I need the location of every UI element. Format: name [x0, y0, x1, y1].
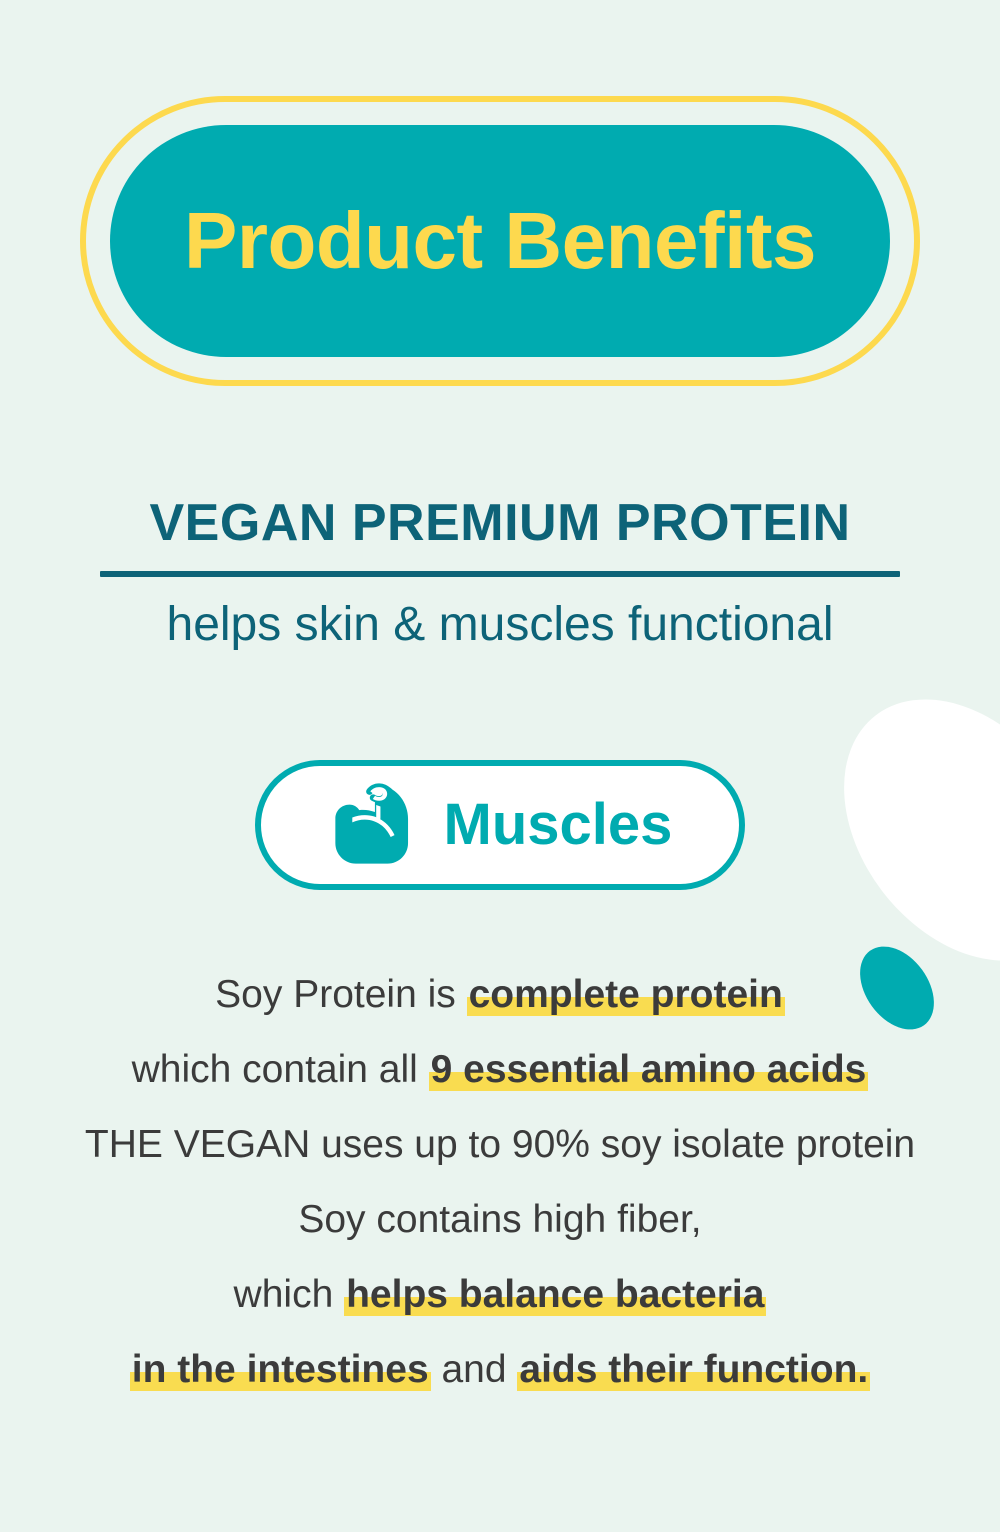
- copy-line-1: Soy Protein is complete protein: [0, 975, 1000, 1014]
- copy-line-4: Soy contains high fiber,: [0, 1200, 1000, 1239]
- headline-main: VEGAN PREMIUM PROTEIN: [0, 495, 1000, 551]
- page-title: Product Benefits: [184, 201, 816, 281]
- copy-line-3: THE VEGAN uses up to 90% soy isolate pro…: [0, 1125, 1000, 1164]
- copy-text: Soy Protein is: [215, 973, 466, 1016]
- benefits-copy: Soy Protein is complete protein which co…: [0, 975, 1000, 1389]
- highlighted-phrase: complete protein: [467, 975, 785, 1014]
- copy-text: Soy contains high fiber,: [298, 1198, 701, 1241]
- header-outline-ring: Product Benefits: [80, 96, 920, 386]
- headline-block: VEGAN PREMIUM PROTEIN helps skin & muscl…: [0, 495, 1000, 652]
- copy-text: which: [234, 1273, 345, 1316]
- headline-subtitle: helps skin & muscles functional: [0, 599, 1000, 652]
- highlighted-phrase: in the intestines: [130, 1350, 431, 1389]
- muscles-badge: Muscles: [255, 760, 745, 890]
- copy-text: which contain all: [132, 1048, 429, 1091]
- highlighted-phrase: helps balance bacteria: [344, 1275, 766, 1314]
- muscles-badge-label: Muscles: [444, 796, 673, 854]
- copy-line-2: which contain all 9 essential amino acid…: [0, 1050, 1000, 1089]
- copy-line-6: in the intestines and aids their functio…: [0, 1350, 1000, 1389]
- copy-text: and: [431, 1348, 518, 1391]
- copy-line-5: which helps balance bacteria: [0, 1275, 1000, 1314]
- copy-text: THE VEGAN uses up to 90% soy isolate pro…: [85, 1123, 915, 1166]
- highlighted-phrase: 9 essential amino acids: [429, 1050, 869, 1089]
- highlighted-phrase: aids their function.: [517, 1350, 870, 1389]
- headline-divider: [100, 571, 900, 577]
- flexed-bicep-icon: [328, 779, 420, 871]
- header-pill: Product Benefits: [110, 125, 890, 357]
